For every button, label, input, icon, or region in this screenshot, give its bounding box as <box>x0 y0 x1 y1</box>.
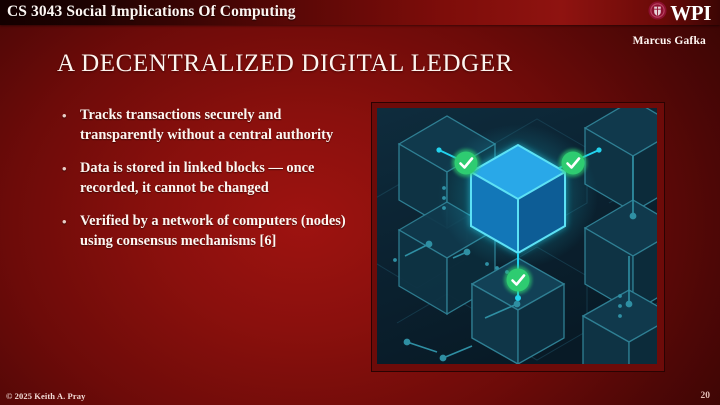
wpi-logo: WPI <box>648 1 711 25</box>
bullet-marker-icon: • <box>62 159 67 179</box>
course-title: CS 3043 Social Implications Of Computing <box>7 3 296 21</box>
wpi-wordmark: WPI <box>670 3 711 24</box>
list-item: • Tracks transactions securely and trans… <box>58 105 353 145</box>
page-title: A Decentralized Digital Ledger <box>57 50 513 78</box>
list-item-text: Data is stored in linked blocks — once r… <box>80 160 314 196</box>
verified-badge-bottom <box>504 266 532 294</box>
verified-badge-right <box>559 149 587 177</box>
list-item-text: Verified by a network of computers (node… <box>80 213 346 249</box>
presentation-slide: CS 3043 Social Implications Of Computing… <box>0 0 720 405</box>
bullet-list: • Tracks transactions securely and trans… <box>58 105 353 264</box>
bullet-marker-icon: • <box>62 106 67 126</box>
author-name: Marcus Gafka <box>633 35 706 47</box>
list-item-text: Tracks transactions securely and transpa… <box>80 107 333 143</box>
illustration-frame <box>371 102 665 372</box>
slide-number: 20 <box>701 391 711 401</box>
copyright-notice: © 2025 Keith A. Pray <box>6 391 85 401</box>
verified-badge-left <box>452 149 480 177</box>
list-item: • Verified by a network of computers (no… <box>58 211 353 251</box>
blockchain-isometric-cubes-illustration <box>377 108 657 364</box>
bullet-marker-icon: • <box>62 212 67 232</box>
wpi-seal-icon <box>648 1 667 25</box>
list-item: • Data is stored in linked blocks — once… <box>58 158 353 198</box>
